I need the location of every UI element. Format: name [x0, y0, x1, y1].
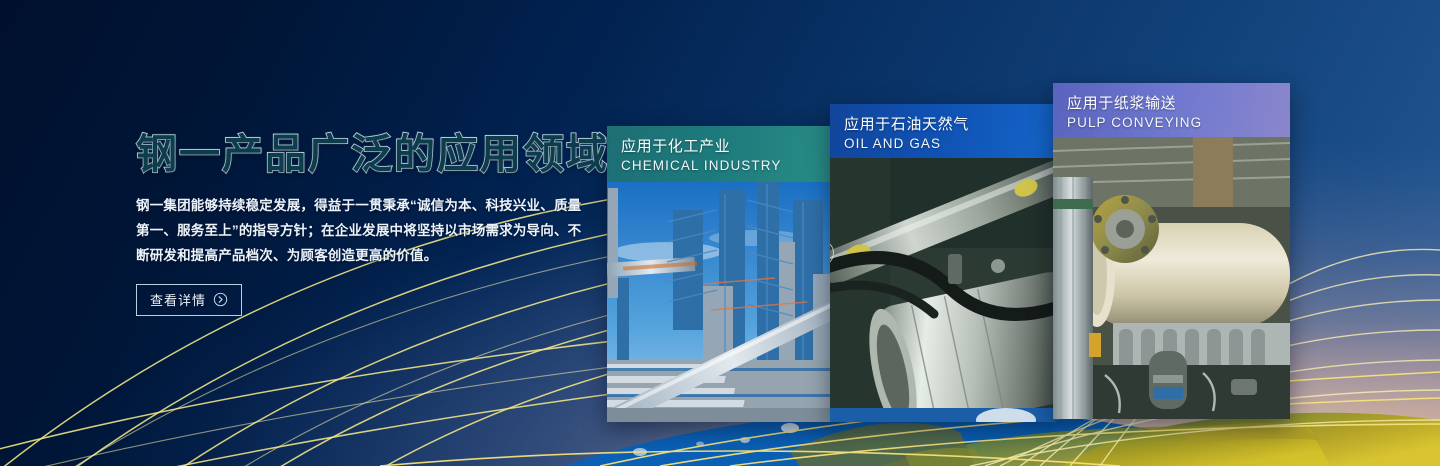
card-pulp-conveying[interactable]: 应用于纸浆输送 PULP CONVEYING — [1053, 83, 1290, 419]
card-oil-and-gas[interactable]: 应用于石油天然气 OIL AND GAS — [830, 104, 1056, 422]
card-pulp-photo — [1053, 137, 1290, 419]
chevron-right-circle-icon — [213, 292, 228, 307]
card-chemical-photo — [607, 182, 841, 422]
card-chemical-industry[interactable]: 应用于化工产业 CHEMICAL INDUSTRY — [607, 126, 841, 422]
card-pulp-title-en: PULP CONVEYING — [1067, 114, 1290, 132]
hero-banner: 钢一产品广泛的应用领域 钢一集团能够持续稳定发展，得益于一贯秉承“诚信为本、科技… — [0, 0, 1440, 466]
hero-copy: 钢一产品广泛的应用领域 钢一集团能够持续稳定发展，得益于一贯秉承“诚信为本、科技… — [136, 132, 606, 316]
card-chemical-title-en: CHEMICAL INDUSTRY — [621, 157, 841, 175]
card-pulp-header: 应用于纸浆输送 PULP CONVEYING — [1053, 83, 1290, 137]
card-chemical-header: 应用于化工产业 CHEMICAL INDUSTRY — [607, 126, 841, 182]
card-oil-title-en: OIL AND GAS — [844, 135, 1056, 153]
hero-description: 钢一集团能够持续稳定发展，得益于一贯秉承“诚信为本、科技兴业、质量第一、服务至上… — [136, 193, 588, 268]
card-pulp-title-cn: 应用于纸浆输送 — [1067, 94, 1290, 114]
page-title: 钢一产品广泛的应用领域 — [136, 132, 606, 176]
view-details-button[interactable]: 查看详情 — [136, 284, 242, 316]
card-oil-photo — [830, 158, 1056, 422]
card-oil-header: 应用于石油天然气 OIL AND GAS — [830, 104, 1056, 158]
view-details-label: 查看详情 — [150, 290, 206, 309]
card-oil-title-cn: 应用于石油天然气 — [844, 115, 1056, 135]
card-chemical-title-cn: 应用于化工产业 — [621, 137, 841, 157]
